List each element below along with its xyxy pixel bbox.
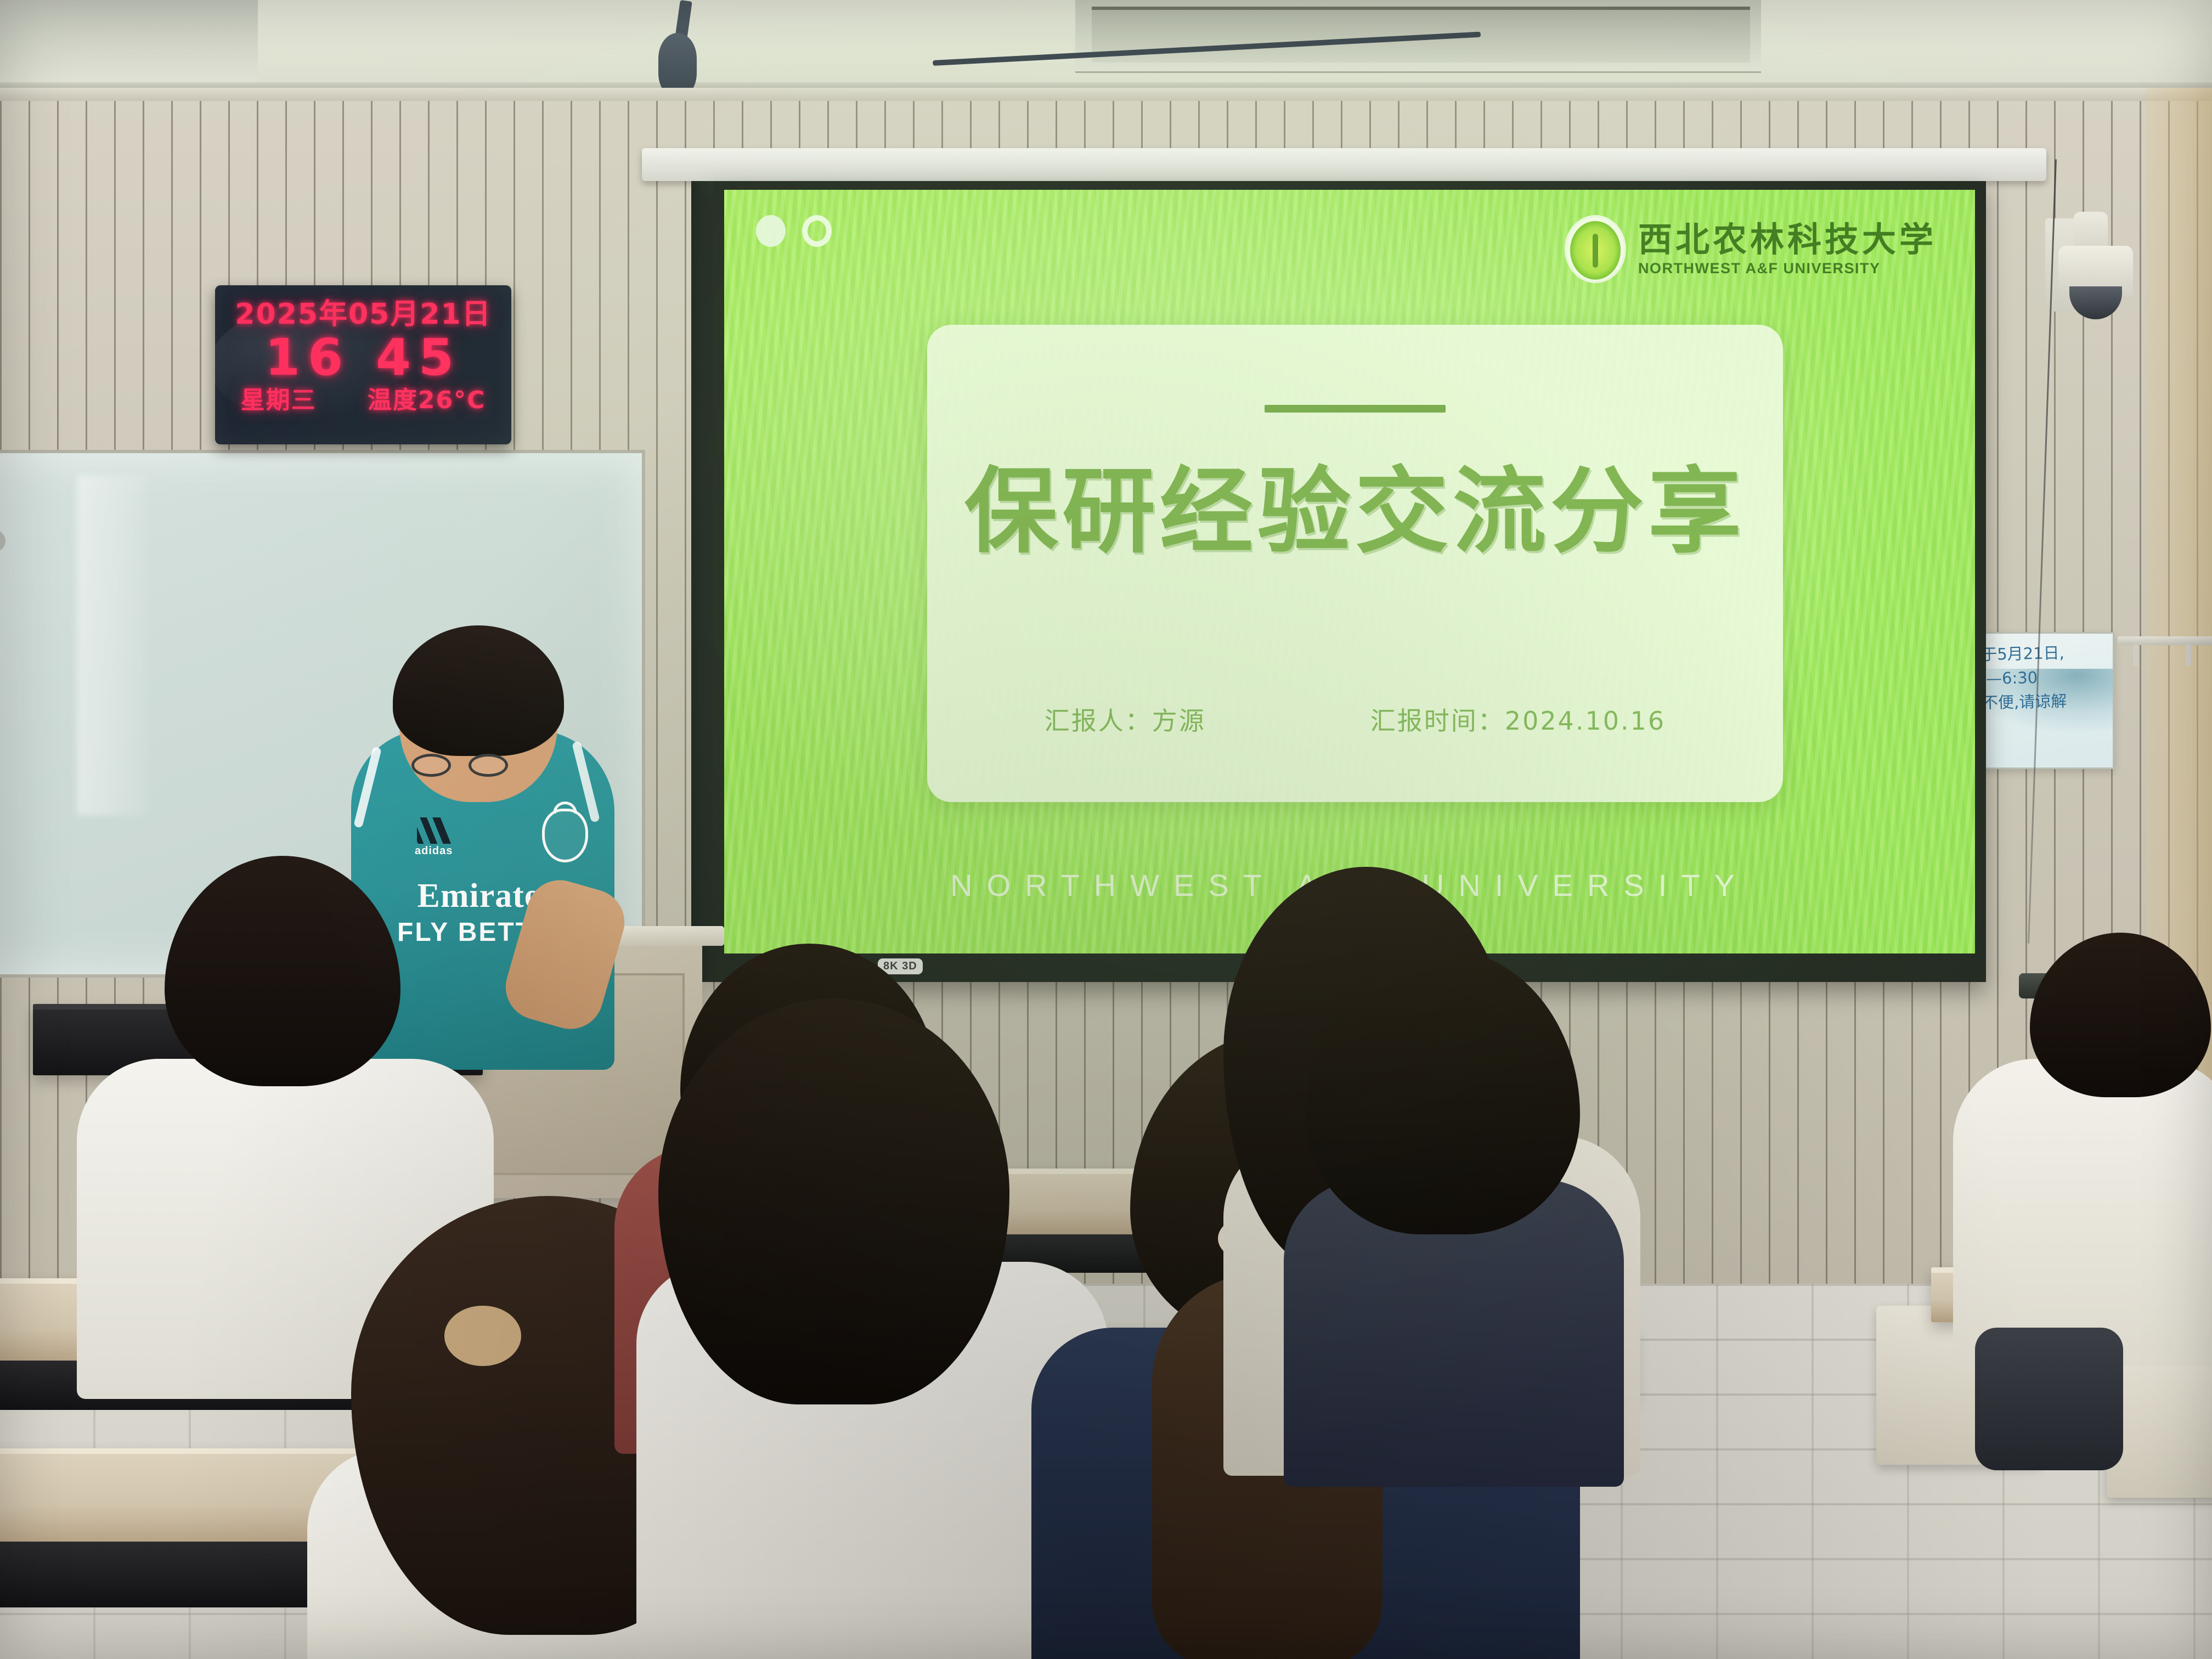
- whiteboard-clip: [0, 530, 5, 552]
- slide-date: 汇报时间：2024.10.16: [1370, 701, 1666, 737]
- led-clock-time: 16 45: [215, 331, 511, 384]
- screen-frame: 8K 3D 西北农林科技大学 NORTHWEST A&F UNIVERSITY: [713, 181, 1986, 982]
- led-clock-weekday: 星期三: [241, 385, 317, 416]
- classroom-scene: 2025年05月21日 16 45 星期三 温度26°C 室于5月21日, 30…: [0, 0, 2212, 1659]
- title-rule: [1265, 405, 1446, 413]
- screen-top-housing: [642, 148, 2046, 181]
- slide-meta: 汇报人：方源 汇报时间：2024.10.16: [927, 701, 1783, 737]
- led-clock-date: 2025年05月21日: [215, 297, 511, 331]
- circle-outline-icon: [802, 215, 832, 247]
- screen-left-edge: [691, 181, 715, 982]
- glasses-icon: [411, 754, 510, 779]
- projector-screen: 8K 3D 西北农林科技大学 NORTHWEST A&F UNIVERSITY: [713, 165, 1986, 988]
- university-logo: 西北农林科技大学 NORTHWEST A&F UNIVERSITY: [1565, 215, 1937, 283]
- wall-hook-rail: [2118, 636, 2212, 645]
- adidas-wordmark: adidas: [415, 845, 453, 857]
- led-clock: 2025年05月21日 16 45 星期三 温度26°C: [215, 285, 511, 444]
- wall-hook-peg-2: [2186, 644, 2191, 666]
- slide-title-card: 保研经验交流分享 汇报人：方源 汇报时间：2024.10.16: [927, 325, 1783, 802]
- slide-presenter: 汇报人：方源: [1045, 701, 1206, 737]
- led-clock-bottom-row: 星期三 温度26°C: [215, 385, 511, 416]
- led-clock-temperature: 温度26°C: [368, 385, 486, 416]
- slide-decor-dots: [756, 215, 832, 247]
- notice-line-1: 室于5月21日,: [1965, 640, 2107, 667]
- university-name-cn: 西北农林科技大学: [1638, 223, 1937, 257]
- ceiling-panel-left: [0, 0, 258, 84]
- whiteboard-glare: [77, 475, 148, 815]
- university-seal-icon: [1565, 215, 1626, 283]
- university-logo-text: 西北农林科技大学 NORTHWEST A&F UNIVERSITY: [1638, 223, 1937, 276]
- circle-filled-icon: [756, 215, 786, 247]
- hair-clip-icon: [444, 1306, 521, 1366]
- wall-hook-peg-1: [2133, 644, 2138, 666]
- wall-top-cap: [0, 88, 2212, 101]
- slide-title: 保研经验交流分享: [964, 460, 1746, 564]
- club-crest-icon: [542, 809, 588, 862]
- adidas-logo-icon: [417, 817, 463, 844]
- university-name-en: NORTHWEST A&F UNIVERSITY: [1638, 261, 1937, 276]
- ceiling-seam: [0, 82, 2212, 88]
- presentation-slide: 西北农林科技大学 NORTHWEST A&F UNIVERSITY 保研经验交流…: [724, 190, 1975, 953]
